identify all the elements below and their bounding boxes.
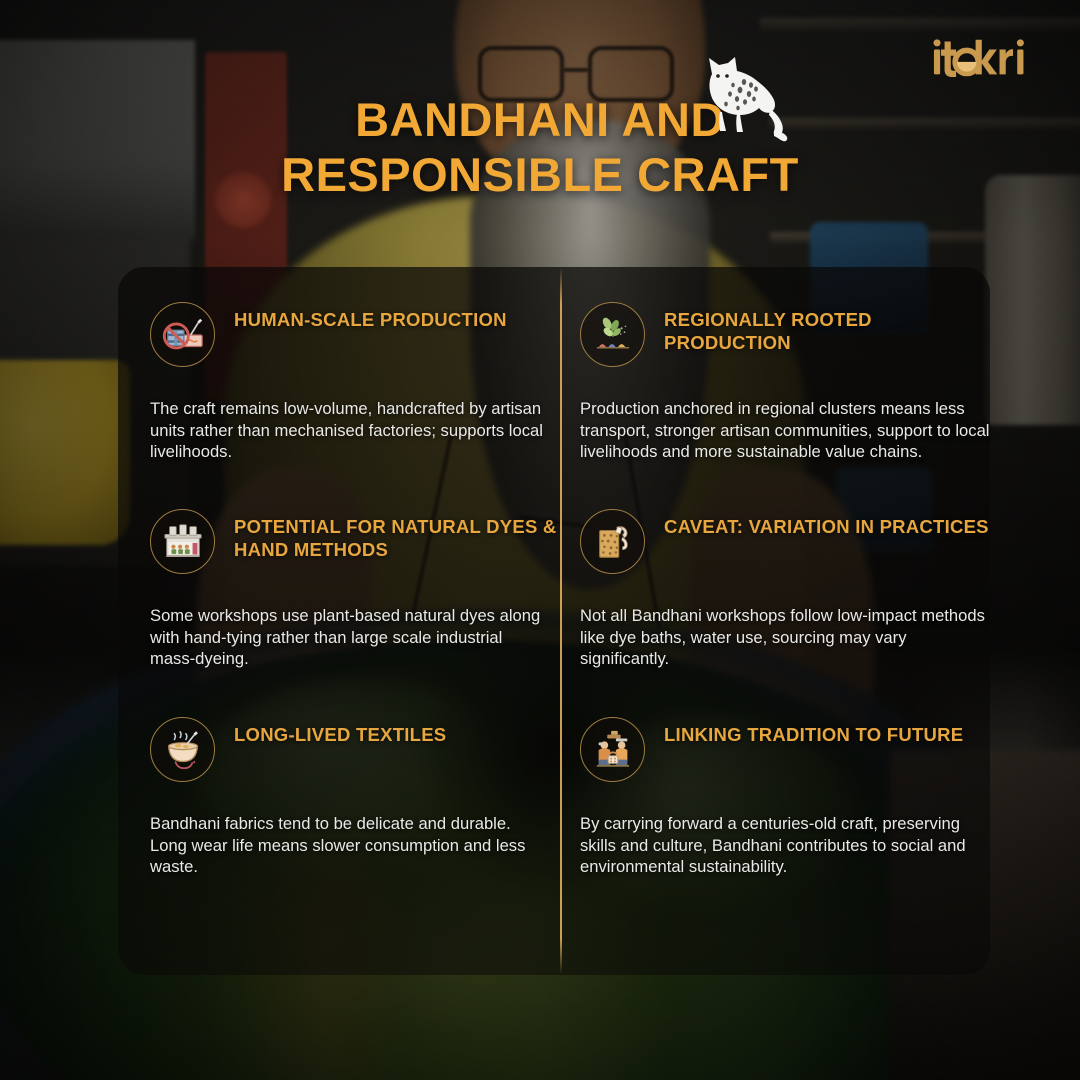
feature-header: POTENTIAL FOR NATURAL DYES & HAND METHOD…	[150, 509, 560, 583]
title-line-2: RESPONSIBLE CRAFT	[0, 147, 1080, 202]
feature-header: LONG-LIVED TEXTILES	[150, 717, 560, 791]
feature-item: HUMAN-SCALE PRODUCTION The craft remains…	[150, 302, 560, 463]
steaming-dye-pot-icon	[150, 717, 215, 782]
brand-logo[interactable]	[932, 38, 1044, 77]
feature-title: LONG-LIVED TEXTILES	[234, 717, 446, 747]
hand-holding-patterned-fabric-icon	[580, 509, 645, 574]
feature-header: LINKING TRADITION TO FUTURE	[580, 717, 990, 791]
feature-header: REGIONALLY ROOTED PRODUCTION	[580, 302, 990, 376]
feature-body: By carrying forward a centuries-old craf…	[580, 813, 990, 878]
feature-item: CAVEAT: VARIATION IN PRACTICES Not all B…	[580, 509, 990, 670]
infographic-canvas: BANDHANI AND RESPONSIBLE CRAFT	[0, 0, 1080, 1080]
title-line-1: BANDHANI AND	[355, 93, 725, 146]
feature-header: HUMAN-SCALE PRODUCTION	[150, 302, 560, 376]
feature-title: POTENTIAL FOR NATURAL DYES & HAND METHOD…	[234, 509, 560, 561]
feature-title: REGIONALLY ROOTED PRODUCTION	[664, 302, 990, 354]
feature-item: LINKING TRADITION TO FUTURE By carrying …	[580, 717, 990, 878]
feature-title: HUMAN-SCALE PRODUCTION	[234, 302, 507, 332]
feature-header: CAVEAT: VARIATION IN PRACTICES	[580, 509, 990, 583]
feature-body: Bandhani fabrics tend to be delicate and…	[150, 813, 548, 878]
feature-body: Production anchored in regional clusters…	[580, 398, 990, 463]
feature-item: REGIONALLY ROOTED PRODUCTION Production …	[580, 302, 990, 463]
feature-item: POTENTIAL FOR NATURAL DYES & HAND METHOD…	[150, 509, 560, 670]
feature-title: CAVEAT: VARIATION IN PRACTICES	[664, 509, 989, 539]
feature-item: LONG-LIVED TEXTILES Bandhani fabrics ten…	[150, 717, 560, 878]
feature-title: LINKING TRADITION TO FUTURE	[664, 717, 963, 747]
artisan-workshop-building-icon	[150, 509, 215, 574]
leaves-and-dye-powder-icon	[580, 302, 645, 367]
feature-body: Not all Bandhani workshops follow low-im…	[580, 605, 990, 670]
page-title: BANDHANI AND RESPONSIBLE CRAFT	[0, 92, 1080, 203]
feature-body: Some workshops use plant-based natural d…	[150, 605, 548, 670]
feature-body: The craft remains low-volume, handcrafte…	[150, 398, 548, 463]
header: BANDHANI AND RESPONSIBLE CRAFT	[0, 0, 1080, 250]
cat-illustration-icon	[692, 52, 796, 148]
no-factory-machine-icon	[150, 302, 215, 367]
two-artisans-working-icon	[580, 717, 645, 782]
items-grid: HUMAN-SCALE PRODUCTION The craft remains…	[118, 267, 990, 975]
